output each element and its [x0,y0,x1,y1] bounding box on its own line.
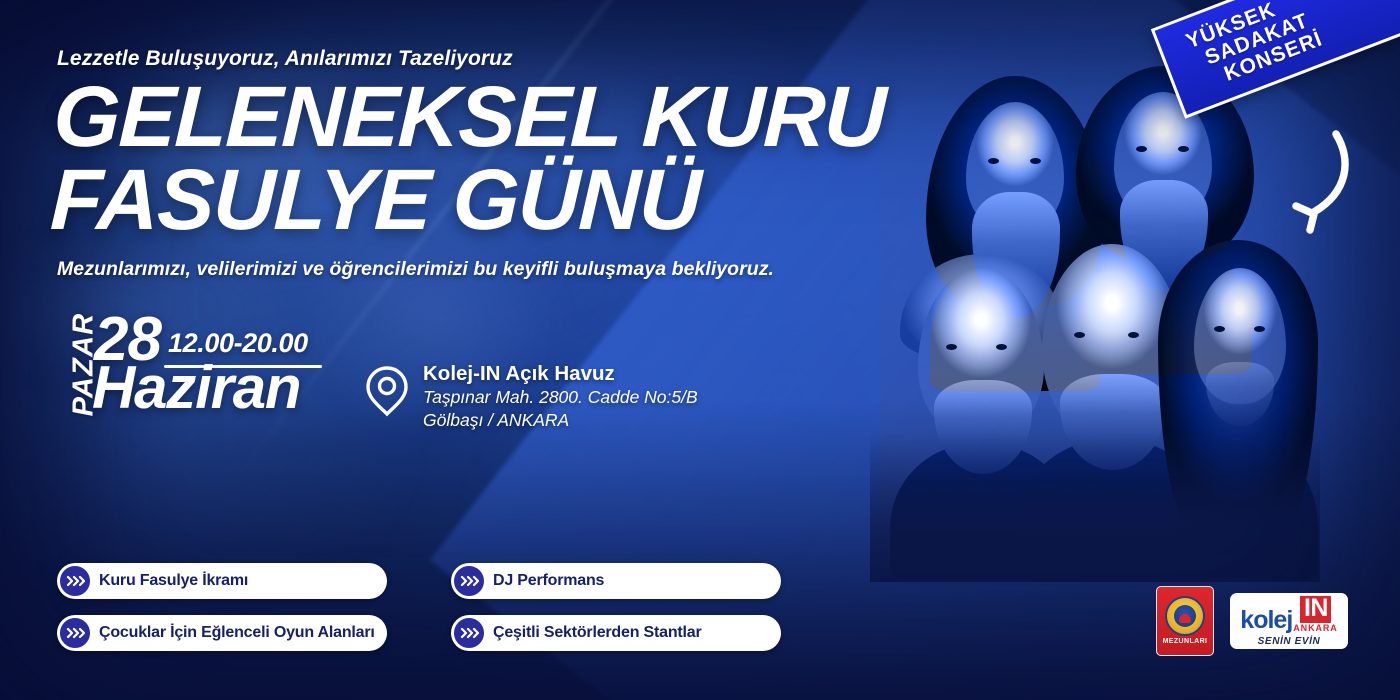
kolejin-slogan: SENİN EVİN [1258,636,1321,647]
triple-chevron-icon [58,616,92,650]
mezunlari-logo-caption: MEZUNLARI [1163,638,1208,645]
emblem-flame [1179,614,1191,623]
kolejin-accent-wrap: IN ANKARA [1293,596,1337,633]
feature-pill-dj-performans[interactable]: DJ Performans [451,563,781,599]
feature-pill-label: DJ Performans [493,572,604,590]
venue-address-line-2: Gölbaşı / ANKARA [423,409,698,431]
kolejin-wordmark: kolej IN ANKARA [1240,596,1337,633]
mezunlari-logo: MEZUNLARI [1156,586,1214,656]
school-emblem-icon [1165,596,1205,636]
feature-pill-label: Kuru Fasulye İkramı [99,572,248,590]
curved-arrow-icon [1262,126,1382,238]
feature-pill-cocuklar-icin-oyun-alanlari[interactable]: Çocuklar İçin Eğlenceli Oyun Alanları [57,615,387,651]
headline-line-2: FASULYE GÜNÜ [49,159,883,242]
feature-pill-cesitli-sektorlerden-stantlar[interactable]: Çeşitli Sektörlerden Stantlar [451,615,781,651]
kolejin-logo: kolej IN ANKARA SENİN EVİN [1230,593,1348,649]
map-pin-icon [365,365,409,417]
event-month: Haziran [92,358,300,418]
venue-address-line-1: Taşpınar Mah. 2800. Cadde No:5/B [423,386,698,408]
feature-pill-kuru-fasulye-ikrami[interactable]: Kuru Fasulye İkramı [57,563,387,599]
subtitle-text: Mezunlarımızı, velilerimizi ve öğrencile… [57,258,774,281]
triple-chevron-icon [452,564,486,598]
emblem-core [1174,605,1196,627]
venue-name: Kolej-IN Açık Havuz [423,362,698,386]
kolejin-word-primary: kolej [1240,608,1292,633]
event-banner: YÜKSEK SADAKAT KONSERİ Lezzetle Buluşuyo… [0,0,1400,700]
page-title: GELENEKSEL KURU FASULYE GÜNÜ [49,76,886,241]
venue-block: Kolej-IN Açık Havuz Taşpınar Mah. 2800. … [365,362,698,431]
headline-line-1: GELENEKSEL KURU [52,69,887,165]
event-date-block: PAZAR 28 12.00-20.00 Haziran [52,312,342,432]
feature-pill-label: Çeşitli Sektörlerden Stantlar [493,624,702,642]
feature-pill-label: Çocuklar İçin Eğlenceli Oyun Alanları [99,624,375,642]
kolejin-city: ANKARA [1293,624,1337,633]
logo-group: MEZUNLARI kolej IN ANKARA SENİN EVİN [1156,586,1348,656]
kicker-text: Lezzetle Buluşuyoruz, Anılarımızı Tazeli… [57,47,513,71]
triple-chevron-icon [58,564,92,598]
venue-text-group: Kolej-IN Açık Havuz Taşpınar Mah. 2800. … [423,362,698,431]
triple-chevron-icon [452,616,486,650]
kolejin-word-accent: IN [1300,596,1331,623]
feature-pill-list: Kuru Fasulye İkramı DJ Performans Çocukl… [57,563,781,651]
